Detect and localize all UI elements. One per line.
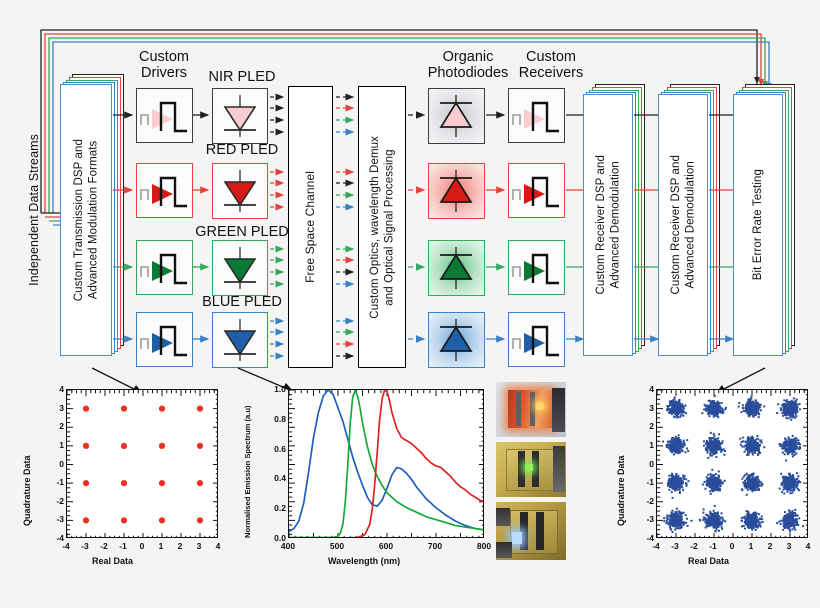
tx-constellation-panel: Quadrature Data Real Data -4-3-2-101234 … [18,378,233,573]
axis-tick-label: -1 [114,541,132,551]
axis-tick-label: 0.4 [266,473,286,483]
axis-tick-label: 3 [634,403,654,413]
tx-constellation-plot[interactable] [66,389,218,538]
axis-tick-label: 1 [634,440,654,450]
axis-tick-label: 0 [634,459,654,469]
axis-tick-label: -3 [666,541,684,551]
axis-tick-label: 0 [44,459,64,469]
axis-tick-label: -2 [95,541,113,551]
axis-tick-label: 2 [44,421,64,431]
axis-tick-label: -3 [634,514,654,524]
axis-tick-label: -1 [704,541,722,551]
axis-tick-label: 0.2 [266,503,286,513]
rx-constellation-panel: Quadrature Data Real Data -4-3-2-101234 … [612,378,817,573]
axis-tick-label: -2 [44,496,64,506]
axis-tick-label: -2 [685,541,703,551]
axis-tick-label: 0.0 [266,533,286,543]
emission-spectrum-panel: Normalised Emission Spectrum (a.u) Wavel… [240,378,490,573]
axis-tick-label: 0.6 [266,444,286,454]
green-pled-device-photo [496,442,566,497]
axis-tick-label: 3 [780,541,798,551]
axis-tick-label: -4 [44,533,64,543]
axis-tick-label: 3 [190,541,208,551]
spectrum-ylabel: Normalised Emission Spectrum (a.u) [243,388,252,538]
rx-constellation-ylabel: Quadrature Data [616,406,626,526]
axis-tick-label: 2 [171,541,189,551]
axis-tick-label: -1 [44,477,64,487]
axis-tick-label: 4 [799,541,817,551]
rx-constellation-xlabel: Real Data [688,556,729,566]
spectrum-xlabel: Wavelength (nm) [328,556,400,566]
axis-tick-label: -3 [76,541,94,551]
axis-tick-label: 1.0 [266,384,286,394]
axis-tick-label: -2 [634,496,654,506]
axis-tick-label: 0 [133,541,151,551]
spectrum-plot[interactable] [288,389,484,538]
axis-tick-label: -1 [634,477,654,487]
axis-tick-label: 3 [44,403,64,413]
axis-tick-label: 0.8 [266,414,286,424]
axis-tick-label: 4 [44,384,64,394]
axis-tick-label: -3 [44,514,64,524]
red-pled-device-photo [496,382,566,437]
axis-tick-label: 1 [44,440,64,450]
axis-tick-label: 2 [761,541,779,551]
blue-pled-device-photo [496,502,566,560]
axis-tick-label: 4 [209,541,227,551]
tx-constellation-xlabel: Real Data [92,556,133,566]
signal-connector-wires [0,0,820,400]
axis-tick-label: 2 [634,421,654,431]
rx-constellation-plot[interactable] [656,389,808,538]
axis-tick-label: 4 [634,384,654,394]
axis-tick-label: 1 [742,541,760,551]
axis-tick-label: 600 [377,541,395,551]
axis-tick-label: 700 [426,541,444,551]
tx-constellation-ylabel: Quadrature Data [22,406,32,526]
axis-tick-label: 500 [328,541,346,551]
axis-tick-label: 1 [152,541,170,551]
axis-tick-label: 0 [723,541,741,551]
axis-tick-label: -4 [634,533,654,543]
axis-tick-label: 800 [475,541,493,551]
